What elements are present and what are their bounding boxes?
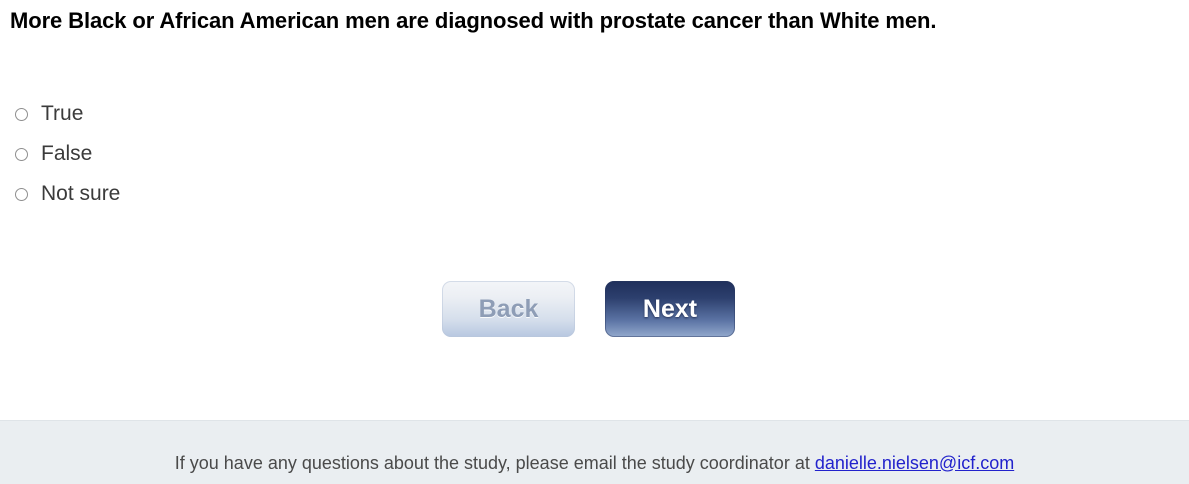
back-button[interactable]: Back: [442, 281, 575, 337]
radio-option-true[interactable]: True: [10, 94, 610, 134]
radio-circle-icon[interactable]: [15, 108, 28, 121]
navigation-button-bar: Back Next: [442, 281, 735, 337]
radio-option-not-sure[interactable]: Not sure: [10, 174, 610, 214]
radio-option-label: True: [41, 102, 83, 126]
survey-question-page: More Black or African American men are d…: [0, 0, 1189, 484]
study-coordinator-email-link[interactable]: danielle.nielsen@icf.com: [815, 453, 1014, 473]
radio-circle-icon[interactable]: [15, 188, 28, 201]
footer-bar: If you have any questions about the stud…: [0, 420, 1189, 484]
radio-option-label: Not sure: [41, 182, 120, 206]
page-title: More Black or African American men are d…: [10, 6, 1140, 36]
radio-group: True False Not sure: [10, 94, 610, 214]
radio-option-label: False: [41, 142, 92, 166]
radio-option-false[interactable]: False: [10, 134, 610, 174]
radio-circle-icon[interactable]: [15, 148, 28, 161]
next-button[interactable]: Next: [605, 281, 735, 337]
footer-message: If you have any questions about the stud…: [175, 431, 1014, 475]
footer-message-prefix: If you have any questions about the stud…: [175, 453, 815, 473]
